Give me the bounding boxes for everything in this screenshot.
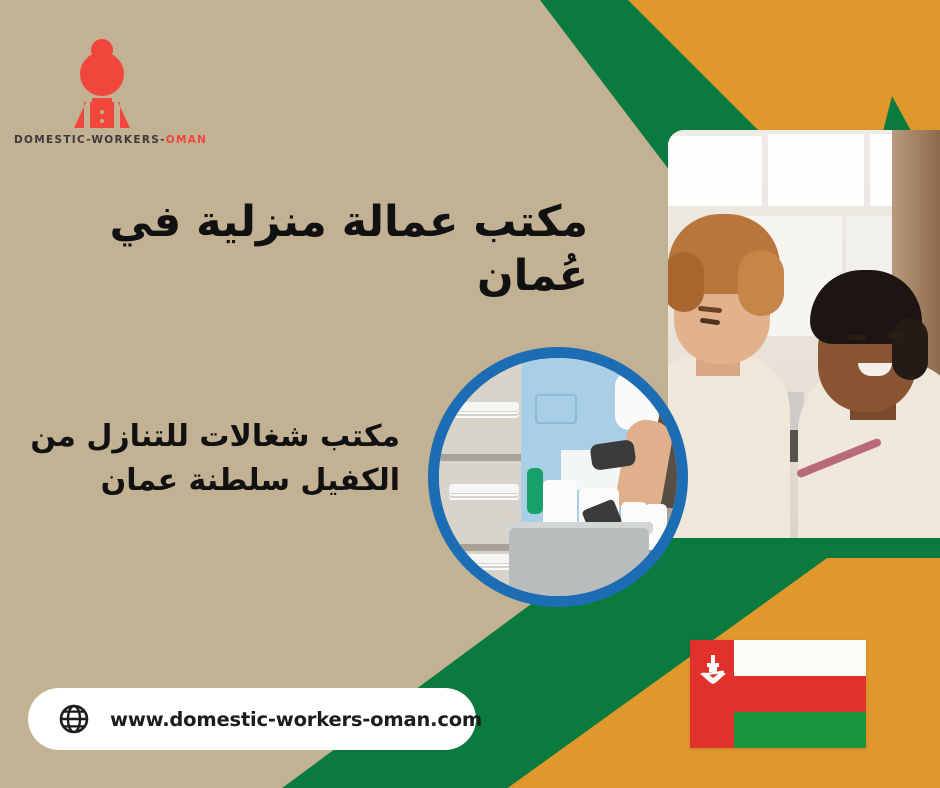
- worker-right-eye: [848, 335, 866, 340]
- oman-flag: [690, 640, 866, 748]
- window-pane: [768, 134, 864, 206]
- brand-logo[interactable]: DOMESTIC-WORKERS-OMAN: [14, 36, 194, 166]
- subheading: مكتب شغالات للتنازل من الكفيل سلطنة عمان: [0, 415, 400, 502]
- shelf-board: [439, 454, 531, 461]
- uniform-pocket: [535, 394, 577, 424]
- cleaning-supplies-photo: [428, 347, 688, 607]
- window-pane: [668, 136, 762, 206]
- khanjar-dagger-emblem: [698, 654, 728, 688]
- domestic-worker-avatar-icon: [62, 36, 142, 128]
- worker-right-eye: [888, 333, 904, 338]
- folded-towel: [445, 402, 519, 411]
- website-url-text: www.domestic-workers-oman.com: [110, 708, 482, 731]
- folded-towel: [449, 484, 519, 493]
- brand-logo-text-primary: DOMESTIC-WORKERS-: [14, 134, 166, 146]
- brand-logo-text-accent: OMAN: [166, 134, 208, 146]
- cleaning-caddy: [509, 528, 649, 596]
- worker-left-hair: [738, 250, 784, 316]
- poster-canvas: DOMESTIC-WORKERS-OMAN مكتب عمالة منزلية …: [0, 0, 940, 788]
- worker-left-hair: [668, 252, 704, 312]
- worker-right-hair: [892, 318, 928, 380]
- circle-photo-inner: [439, 358, 677, 596]
- page-title: مكتب عمالة منزلية في عُمان: [28, 196, 588, 304]
- globe-icon: [58, 703, 90, 735]
- website-url-pill[interactable]: www.domestic-workers-oman.com: [28, 688, 476, 750]
- brand-logo-text: DOMESTIC-WORKERS-OMAN: [14, 134, 194, 146]
- green-spray-bottle: [527, 468, 543, 514]
